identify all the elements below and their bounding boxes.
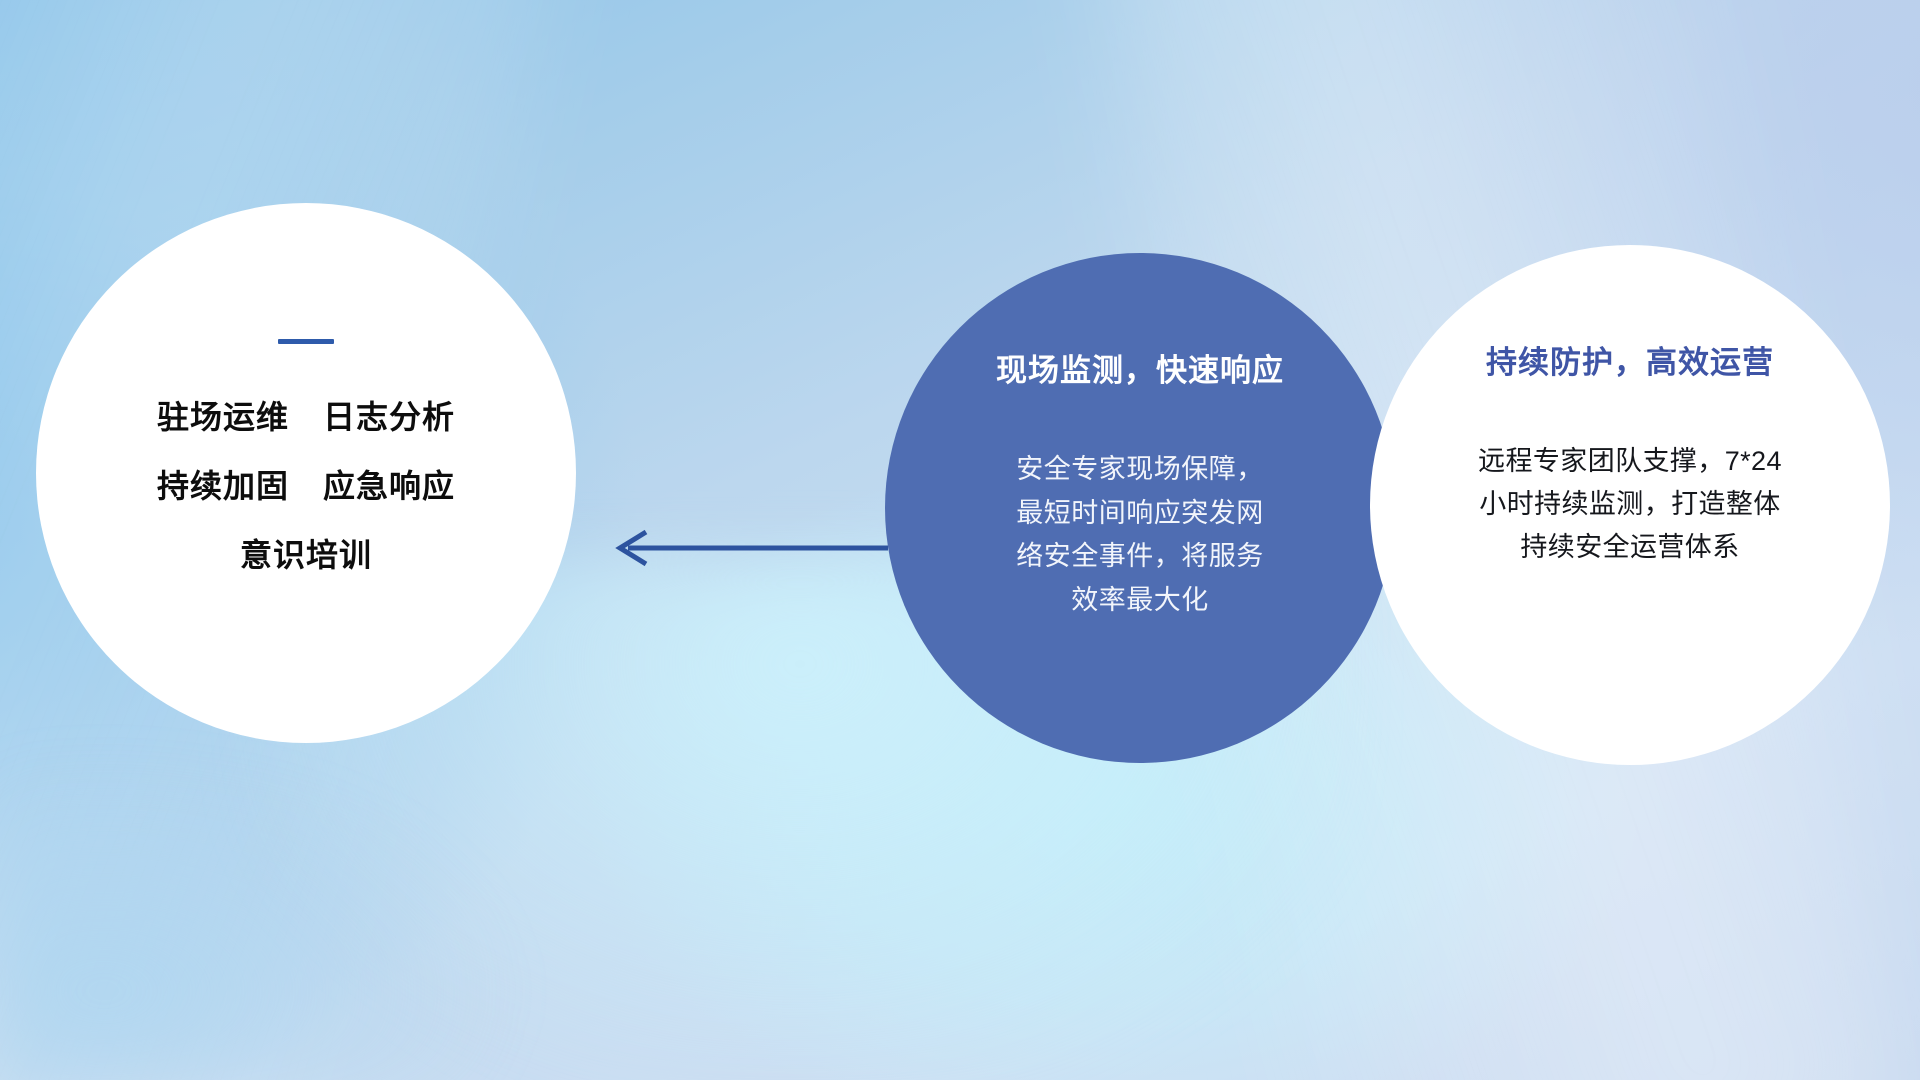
continuous-protection-title: 持续防护，高效运营	[1424, 337, 1836, 382]
onsite-monitoring-circle[interactable]: 现场监测，快速响应 安全专家现场保障， 最短时间响应突发网 络安全事件，将服务 …	[885, 253, 1395, 763]
accent-dash	[278, 339, 334, 344]
capability-content: 驻场运维 日志分析 持续加固 应急响应 意识培训	[86, 339, 526, 603]
body-line: 持续安全运营体系	[1424, 526, 1836, 569]
body-line: 远程专家团队支撑，7*24	[1424, 440, 1836, 483]
body-line: 效率最大化	[964, 579, 1316, 623]
continuous-protection-content: 持续防护，高效运营 远程专家团队支撑，7*24 小时持续监测，打造整体 持续安全…	[1424, 245, 1836, 570]
keyword-chip: 驻场运维	[157, 396, 289, 439]
onsite-monitoring-title: 现场监测，快速响应	[964, 345, 1316, 390]
body-line: 络安全事件，将服务	[964, 535, 1316, 579]
body-line: 安全专家现场保障，	[964, 448, 1316, 492]
flow-arrow-left-icon	[600, 516, 890, 580]
body-line: 小时持续监测，打造整体	[1424, 483, 1836, 526]
keyword-chip: 持续加固	[157, 465, 289, 508]
keyword-row: 意识培训	[86, 534, 526, 577]
keyword-chip: 日志分析	[323, 396, 455, 439]
continuous-protection-body: 远程专家团队支撑，7*24 小时持续监测，打造整体 持续安全运营体系	[1424, 440, 1836, 570]
keyword-chip: 应急响应	[323, 465, 455, 508]
onsite-monitoring-body: 安全专家现场保障， 最短时间响应突发网 络安全事件，将服务 效率最大化	[964, 448, 1316, 623]
keyword-row: 驻场运维 日志分析	[86, 396, 526, 439]
slide-canvas: 驻场运维 日志分析 持续加固 应急响应 意识培训 现场监测，快速响应 安全专家现…	[0, 0, 1920, 1080]
capability-circle[interactable]: 驻场运维 日志分析 持续加固 应急响应 意识培训	[36, 203, 576, 743]
body-line: 最短时间响应突发网	[964, 492, 1316, 536]
keyword-row: 持续加固 应急响应	[86, 465, 526, 508]
continuous-protection-circle[interactable]: 持续防护，高效运营 远程专家团队支撑，7*24 小时持续监测，打造整体 持续安全…	[1370, 245, 1890, 765]
onsite-monitoring-content: 现场监测，快速响应 安全专家现场保障， 最短时间响应突发网 络安全事件，将服务 …	[964, 253, 1316, 623]
keyword-chip: 意识培训	[240, 534, 372, 577]
background-glow-bottom-left	[0, 760, 520, 1080]
